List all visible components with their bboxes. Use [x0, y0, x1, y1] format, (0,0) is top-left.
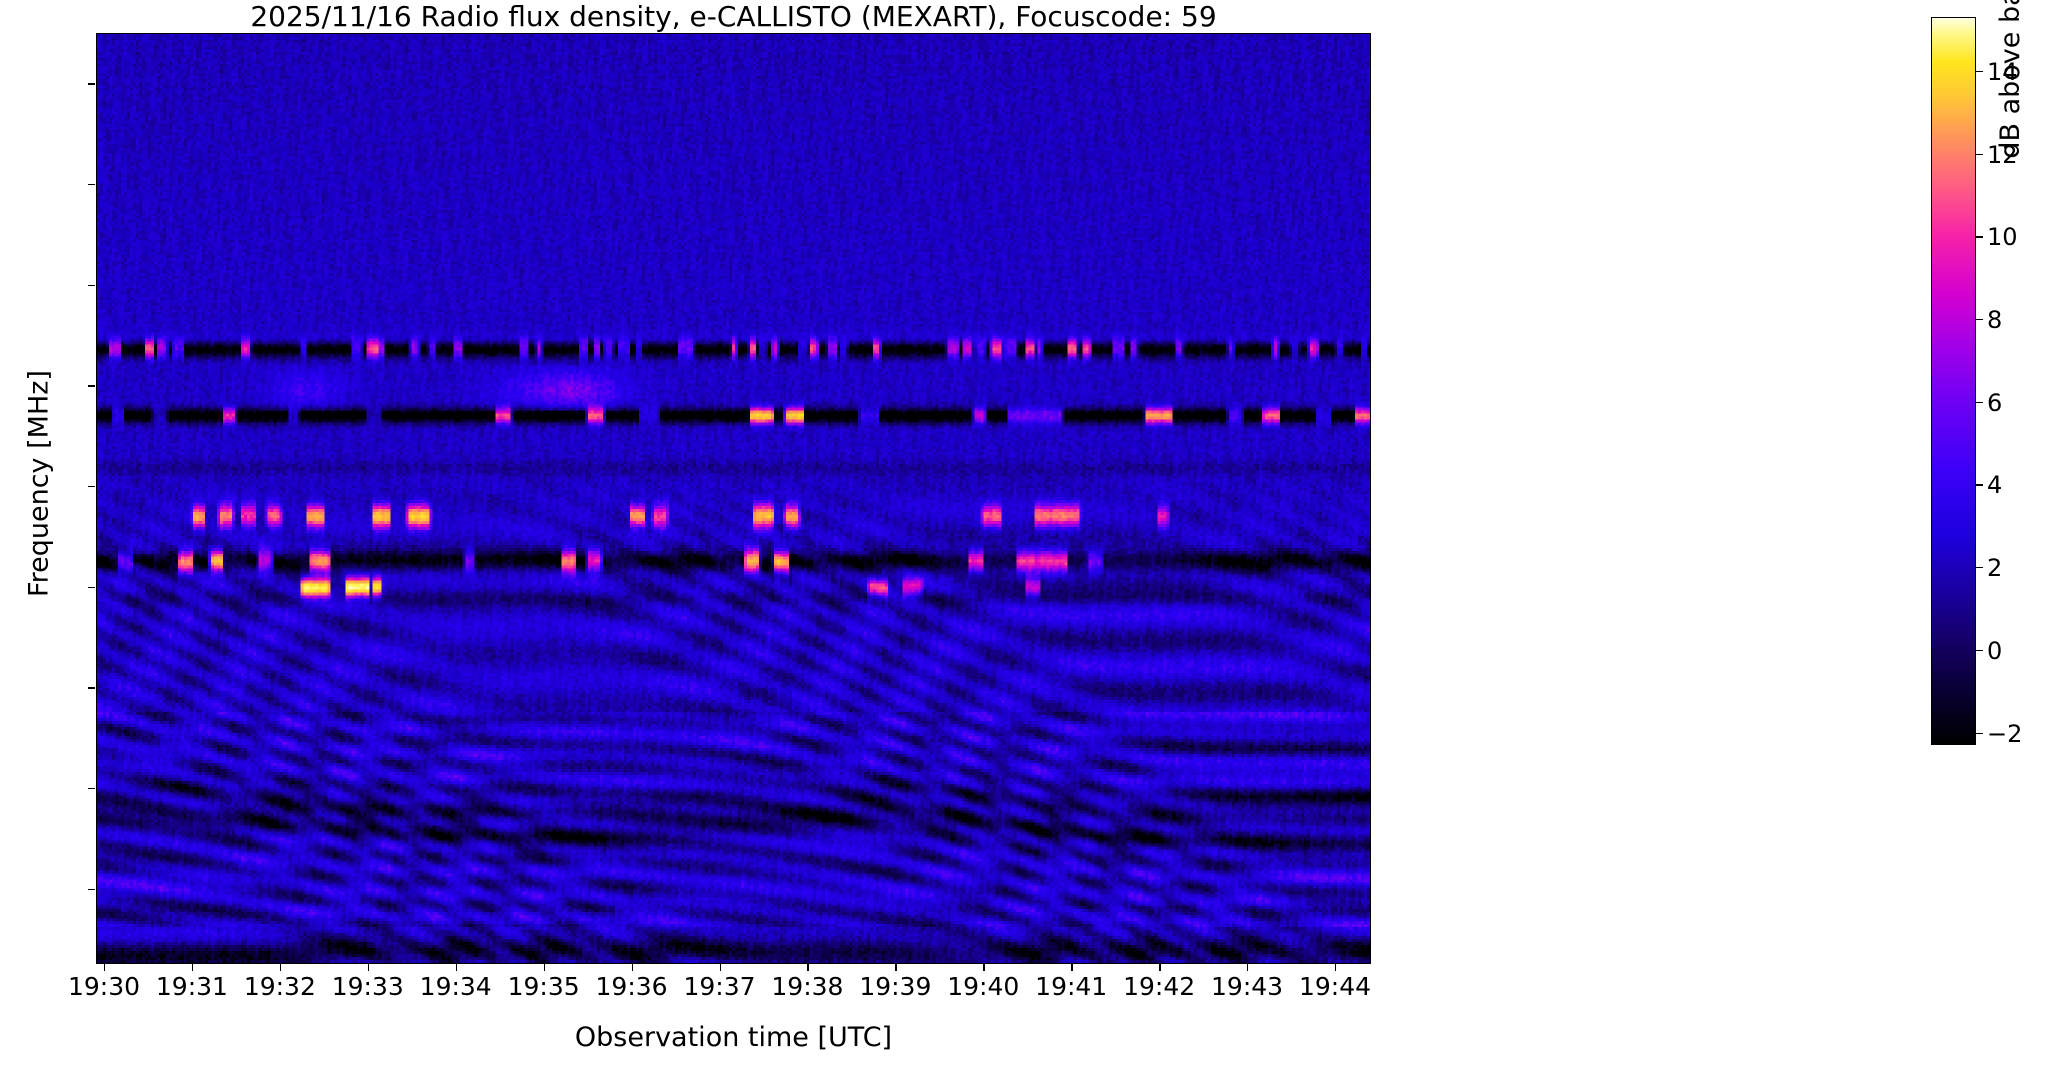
colorbar-tick-mark [1976, 650, 1983, 651]
y-axis-label: Frequency [MHz] [24, 184, 55, 784]
x-tick-mark [1335, 964, 1336, 971]
x-tick-mark [807, 964, 808, 971]
colorbar-tick-label: 4 [1987, 471, 2002, 499]
colorbar-tick-label: 2 [1987, 554, 2002, 582]
x-tick-mark [632, 964, 633, 971]
spectrogram-axes [96, 33, 1371, 964]
colorbar-tick-mark [1976, 154, 1983, 155]
colorbar-tick-mark [1976, 484, 1983, 485]
x-axis-label: Observation time [UTC] [96, 1022, 1371, 1053]
y-tick-mark [88, 687, 95, 688]
spectrogram-image [97, 34, 1370, 963]
colorbar-tick-mark [1976, 402, 1983, 403]
x-tick-mark [720, 964, 721, 971]
figure: 2025/11/16 Radio flux density, e-CALLIST… [0, 0, 2066, 1067]
x-tick-mark [895, 964, 896, 971]
colorbar-tick-label: 6 [1987, 389, 2002, 417]
x-tick-mark [983, 964, 984, 971]
y-tick-mark [88, 385, 95, 386]
colorbar-gradient [1931, 17, 1976, 745]
colorbar-tick-mark [1976, 567, 1983, 568]
y-tick-mark [88, 788, 95, 789]
colorbar-tick-mark [1976, 71, 1983, 72]
x-tick-mark [456, 964, 457, 971]
colorbar-tick-mark [1976, 733, 1983, 734]
y-tick-mark [88, 889, 95, 890]
colorbar-tick-label: 0 [1987, 637, 2002, 665]
x-tick-mark [104, 964, 105, 971]
colorbar: −202468101214 [1931, 17, 1976, 745]
y-tick-mark [88, 285, 95, 286]
y-tick-mark [88, 486, 95, 487]
colorbar-tick-mark [1976, 236, 1983, 237]
x-tick-mark [544, 964, 545, 971]
x-tick-mark [192, 964, 193, 971]
chart-title: 2025/11/16 Radio flux density, e-CALLIST… [96, 2, 1371, 32]
x-tick-mark [1159, 964, 1160, 971]
colorbar-label: dB above background [1995, 0, 2026, 381]
y-tick-mark [88, 184, 95, 185]
x-tick-mark [1247, 964, 1248, 971]
colorbar-tick-mark [1976, 319, 1983, 320]
x-tick-mark [368, 964, 369, 971]
x-tick-label: 19:44 [1255, 972, 1415, 1001]
colorbar-tick-label: −2 [1987, 720, 2022, 748]
x-tick-mark [280, 964, 281, 971]
y-tick-mark [88, 587, 95, 588]
y-tick-mark [88, 83, 95, 84]
x-tick-mark [1071, 964, 1072, 971]
